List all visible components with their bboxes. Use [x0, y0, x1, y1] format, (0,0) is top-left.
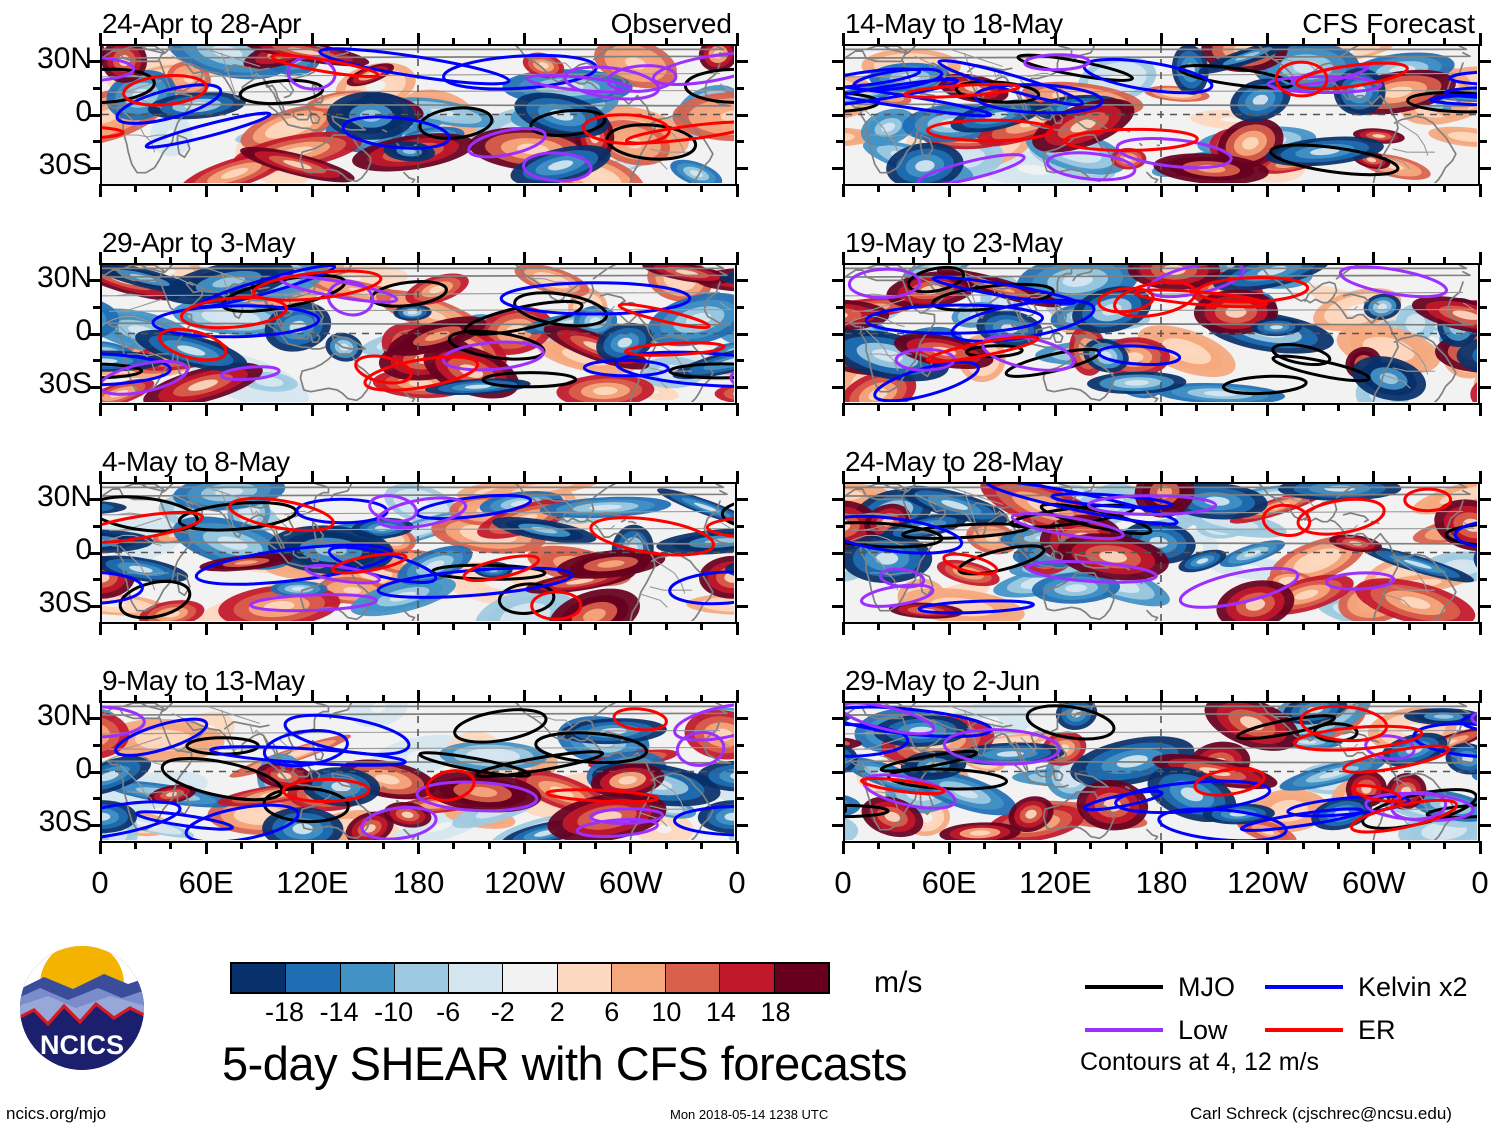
- y-axis-label-30N: 30N: [4, 42, 92, 76]
- colorbar-swatch-6: [558, 964, 612, 992]
- footer-right: Carl Schreck (cjschrec@ncsu.edu): [1190, 1104, 1452, 1124]
- colorbar-tick-9: 18: [725, 997, 825, 1028]
- y-axis-label-0: 0: [4, 314, 92, 348]
- svg-text:NCICS: NCICS: [40, 1030, 124, 1060]
- y-axis-label-30S: 30S: [4, 367, 92, 401]
- panel-title-fcst-3: 24-May to 28-May: [845, 446, 1063, 478]
- colorbar-swatch-3: [395, 964, 449, 992]
- map-panel-fcst-1: [843, 44, 1480, 186]
- legend-label-er: ER: [1358, 1015, 1396, 1046]
- colorbar-swatch-0: [232, 964, 286, 992]
- figure-title: 5-day SHEAR with CFS forecasts: [222, 1036, 907, 1091]
- legend-label-mjo: MJO: [1178, 972, 1235, 1003]
- colorbar-swatch-9: [720, 964, 774, 992]
- panel-title-fcst-2: 19-May to 23-May: [845, 227, 1063, 259]
- contour-note: Contours at 4, 12 m/s: [1080, 1048, 1319, 1077]
- footer-left[interactable]: ncics.org/mjo: [6, 1104, 106, 1124]
- colorbar-swatch-8: [666, 964, 720, 992]
- legend-swatch-kelvin-x2: [1265, 985, 1343, 989]
- y-axis-label-30N: 30N: [4, 699, 92, 733]
- map-panel-fcst-4: [843, 701, 1480, 843]
- y-axis-label-0: 0: [4, 533, 92, 567]
- panel-title-fcst-1: 14-May to 18-May: [845, 8, 1063, 40]
- legend-swatch-mjo: [1085, 985, 1163, 989]
- colorbar-swatch-2: [341, 964, 395, 992]
- y-axis-label-30S: 30S: [4, 586, 92, 620]
- y-axis-label-30S: 30S: [4, 148, 92, 182]
- colorbar-swatch-4: [449, 964, 503, 992]
- colorbar: [230, 962, 830, 994]
- panel-title-obs-4: 9-May to 13-May: [102, 665, 305, 697]
- map-panel-obs-2: [100, 263, 737, 405]
- ncics-logo: NCICS: [18, 944, 146, 1072]
- y-axis-label-30N: 30N: [4, 261, 92, 295]
- legend-swatch-low: [1085, 1028, 1163, 1032]
- footer-center: Mon 2018-05-14 1238 UTC: [670, 1107, 828, 1122]
- legend-label-low: Low: [1178, 1015, 1228, 1046]
- map-panel-fcst-2: [843, 263, 1480, 405]
- map-panel-fcst-3: [843, 482, 1480, 624]
- y-axis-label-30S: 30S: [4, 805, 92, 839]
- panel-title-obs-2: 29-Apr to 3-May: [102, 227, 295, 259]
- panel-title-obs-1: 24-Apr to 28-Apr: [102, 8, 301, 40]
- colorbar-swatch-5: [503, 964, 557, 992]
- colorbar-swatch-1: [286, 964, 340, 992]
- colorbar-swatch-10: [775, 964, 828, 992]
- panel-corner-label-fcst-1: CFS Forecast: [1302, 8, 1475, 40]
- map-panel-obs-4: [100, 701, 737, 843]
- panel-title-fcst-4: 29-May to 2-Jun: [845, 665, 1040, 697]
- map-panel-obs-3: [100, 482, 737, 624]
- map-panel-obs-1: [100, 44, 737, 186]
- panel-title-obs-3: 4-May to 8-May: [102, 446, 290, 478]
- y-axis-label-0: 0: [4, 752, 92, 786]
- legend-label-kelvin-x2: Kelvin x2: [1358, 972, 1468, 1003]
- x-axis-label-right-6: 0: [1410, 865, 1510, 901]
- y-axis-label-30N: 30N: [4, 480, 92, 514]
- legend-swatch-er: [1265, 1028, 1343, 1032]
- colorbar-swatch-7: [612, 964, 666, 992]
- y-axis-label-0: 0: [4, 95, 92, 129]
- colorbar-unit-label: m/s: [874, 966, 922, 1000]
